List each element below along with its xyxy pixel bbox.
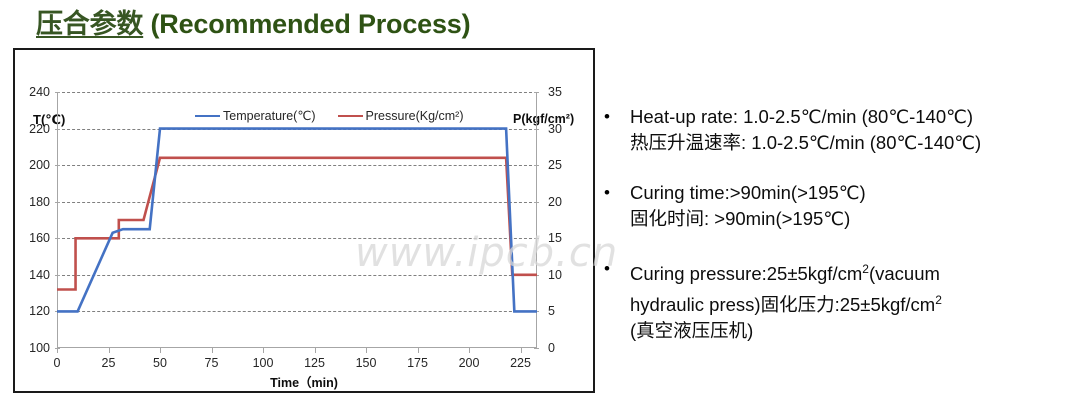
x-axis-tick-label: 150 <box>356 356 377 370</box>
x-axis-tick <box>521 348 522 353</box>
series-lines <box>57 92 537 348</box>
x-axis-title: Time（min) <box>15 372 593 391</box>
bullet-marker-icon: • <box>604 180 630 206</box>
y-axis-right-tick-label: 30 <box>548 122 562 136</box>
y-axis-right-tick-label: 0 <box>548 341 555 355</box>
x-axis-tick-label: 175 <box>407 356 428 370</box>
bullet-line-1: Curing pressure:25±5kgf/cm2(vacuum <box>630 256 1066 287</box>
x-axis-tick-label: 50 <box>153 356 167 370</box>
bullet-text-heat-up-rate: Heat-up rate: 1.0-2.5℃/min (80℃-140℃) 热压… <box>630 104 1066 156</box>
bullet-line-cn: 固化时间: >90min(>195℃) <box>630 206 1066 232</box>
x-axis-tick-label: 75 <box>205 356 219 370</box>
bullet-line-en: Curing time:>90min(>195℃) <box>630 180 1066 206</box>
pressure-line <box>57 158 537 290</box>
page-title-chinese: 压合参数 <box>36 9 143 39</box>
y-axis-right-tick-label: 15 <box>548 231 562 245</box>
plot-area: 100120140160180200220240 05101520253035 … <box>57 92 537 348</box>
chart-container: T(℃) P(kgf/cm²) Time（min) Temperature(℃)… <box>13 48 595 393</box>
y-axis-right-tick-label: 10 <box>548 268 562 282</box>
x-axis-tick-label: 0 <box>54 356 61 370</box>
x-axis-tick-label: 100 <box>253 356 274 370</box>
y-axis-right-tick <box>534 348 539 349</box>
x-axis-tick <box>315 348 316 353</box>
y-axis-left-tick-label: 180 <box>29 195 50 209</box>
bullet-line-1-sup: 2 <box>862 262 869 276</box>
y-axis-left-tick-label: 240 <box>29 85 50 99</box>
bullet-item-curing-pressure: • Curing pressure:25±5kgf/cm2(vacuum hyd… <box>604 256 1066 344</box>
page-title-english: (Recommended Process) <box>143 9 470 39</box>
y-axis-left-tick-label: 160 <box>29 231 50 245</box>
x-axis-tick <box>263 348 264 353</box>
y-axis-right-tick-label: 5 <box>548 304 555 318</box>
x-axis-tick <box>366 348 367 353</box>
bullet-line-2-sup: 2 <box>935 293 942 307</box>
bullet-line-en: Heat-up rate: 1.0-2.5℃/min (80℃-140℃) <box>630 104 1066 130</box>
bullet-line-2-main: hydraulic press)固化压力:25±5kgf/cm <box>630 294 935 315</box>
bullet-item-curing-time: • Curing time:>90min(>195℃) 固化时间: >90min… <box>604 180 1066 232</box>
page-title: 压合参数 (Recommended Process) <box>36 2 470 41</box>
bullet-line-3: (真空液压压机) <box>630 318 1066 344</box>
bullet-line-2: hydraulic press)固化压力:25±5kgf/cm2 <box>630 287 1066 318</box>
x-axis-tick <box>160 348 161 353</box>
bullet-text-curing-time: Curing time:>90min(>195℃) 固化时间: >90min(>… <box>630 180 1066 232</box>
y-axis-right-tick-label: 25 <box>548 158 562 172</box>
bullet-line-cn: 热压升温速率: 1.0-2.5℃/min (80℃-140℃) <box>630 130 1066 156</box>
y-axis-left-tick-label: 100 <box>29 341 50 355</box>
bullet-line-1-tail: (vacuum <box>869 263 940 284</box>
x-axis-tick <box>418 348 419 353</box>
x-axis-tick <box>469 348 470 353</box>
x-axis-tick-label: 25 <box>102 356 116 370</box>
y-axis-left-tick-label: 140 <box>29 268 50 282</box>
y-axis-left-tick-label: 220 <box>29 122 50 136</box>
x-axis-tick-label: 225 <box>510 356 531 370</box>
y-axis-left-tick-label: 200 <box>29 158 50 172</box>
bullet-line-1-main: Curing pressure:25±5kgf/cm <box>630 263 862 284</box>
bullet-marker-icon: • <box>604 104 630 130</box>
bullet-text-curing-pressure: Curing pressure:25±5kgf/cm2(vacuum hydra… <box>630 256 1066 344</box>
y-axis-right-tick-label: 20 <box>548 195 562 209</box>
x-axis-tick-label: 125 <box>304 356 325 370</box>
bullet-list: • Heat-up rate: 1.0-2.5℃/min (80℃-140℃) … <box>604 104 1066 368</box>
x-axis-tick <box>212 348 213 353</box>
bullet-item-heat-up-rate: • Heat-up rate: 1.0-2.5℃/min (80℃-140℃) … <box>604 104 1066 156</box>
y-axis-right-tick-label: 35 <box>548 85 562 99</box>
x-axis-tick-label: 200 <box>459 356 480 370</box>
bullet-marker-icon: • <box>604 256 630 282</box>
y-axis-left-tick-label: 120 <box>29 304 50 318</box>
x-axis-tick <box>57 348 58 353</box>
x-axis-tick <box>109 348 110 353</box>
